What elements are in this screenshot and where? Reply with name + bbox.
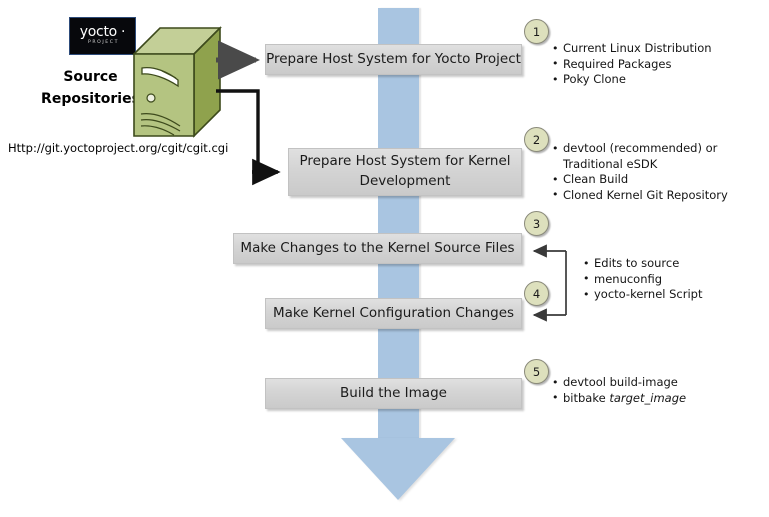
bullet-item: yocto-kernel Script <box>583 287 703 303</box>
bullet-item: bitbake target_image <box>552 391 686 407</box>
step-badge-4: 4 <box>524 281 549 306</box>
diagram-canvas: yocto · PROJECT Source Repositories Http… <box>0 0 769 517</box>
bullet-list-steps-3-4: Edits to source menuconfig yocto-kernel … <box>583 256 703 303</box>
process-box-step-1[interactable]: Prepare Host System for Yocto Project <box>265 44 522 75</box>
process-box-step-2-label-line-1: Prepare Host System for Kernel <box>299 152 510 172</box>
bullet-item: devtool build-image <box>552 375 686 391</box>
bullet-item: Cloned Kernel Git Repository <box>552 188 728 204</box>
logo-subtitle: PROJECT <box>88 39 119 47</box>
arrow-server-to-step2 <box>216 91 258 172</box>
source-repositories-label: Source Repositories <box>38 66 143 110</box>
process-box-step-5-label: Build the Image <box>340 384 447 404</box>
process-box-step-2-label-line-2: Development <box>360 172 451 192</box>
step-badge-2: 2 <box>524 127 549 152</box>
source-repository-url: Http://git.yoctoproject.org/cgit/cgit.cg… <box>8 141 228 155</box>
step-badge-5: 5 <box>524 359 549 384</box>
process-box-step-2[interactable]: Prepare Host System for Kernel Developme… <box>288 148 522 196</box>
server-tower-icon <box>132 26 222 140</box>
bullet-item: Edits to source <box>583 256 703 272</box>
step-badge-1: 1 <box>524 19 549 44</box>
bullet-list-step-1: Current Linux Distribution Required Pack… <box>552 41 712 88</box>
bullet-item-italic-term: target_image <box>609 391 686 405</box>
step-badge-4-number: 4 <box>533 287 540 301</box>
bullet-list-step-2: devtool (recommended) or Traditional eSD… <box>552 141 728 203</box>
bullet-list-step-5: devtool build-image bitbake target_image <box>552 375 686 406</box>
step-badge-3: 3 <box>524 211 549 236</box>
process-box-step-3-label: Make Changes to the Kernel Source Files <box>240 239 514 259</box>
main-flow-arrow-head <box>341 438 455 500</box>
step-badge-3-number: 3 <box>533 217 540 231</box>
bullet-item: devtool (recommended) or <box>552 141 728 157</box>
bullet-item: Required Packages <box>552 57 712 73</box>
bullet-item-continuation: Traditional eSDK <box>552 157 728 173</box>
bullet-item-text: bitbake <box>563 391 609 405</box>
bullet-item: Poky Clone <box>552 72 712 88</box>
process-box-step-1-label: Prepare Host System for Yocto Project <box>266 50 521 70</box>
source-label-line-1: Source <box>38 66 143 88</box>
step-badge-5-number: 5 <box>533 365 540 379</box>
process-box-step-5[interactable]: Build the Image <box>265 378 522 409</box>
process-box-step-3[interactable]: Make Changes to the Kernel Source Files <box>233 233 522 264</box>
bullet-item: Clean Build <box>552 172 728 188</box>
process-box-step-4-label: Make Kernel Configuration Changes <box>273 304 514 324</box>
yocto-project-logo: yocto · PROJECT <box>69 17 136 55</box>
bullet-item: Current Linux Distribution <box>552 41 712 57</box>
step-badge-2-number: 2 <box>533 133 540 147</box>
logo-wordmark: yocto · <box>80 25 125 39</box>
step-badge-1-number: 1 <box>533 25 540 39</box>
source-label-line-2: Repositories <box>38 88 143 110</box>
bullet-item: menuconfig <box>583 272 703 288</box>
process-box-step-4[interactable]: Make Kernel Configuration Changes <box>265 298 522 329</box>
